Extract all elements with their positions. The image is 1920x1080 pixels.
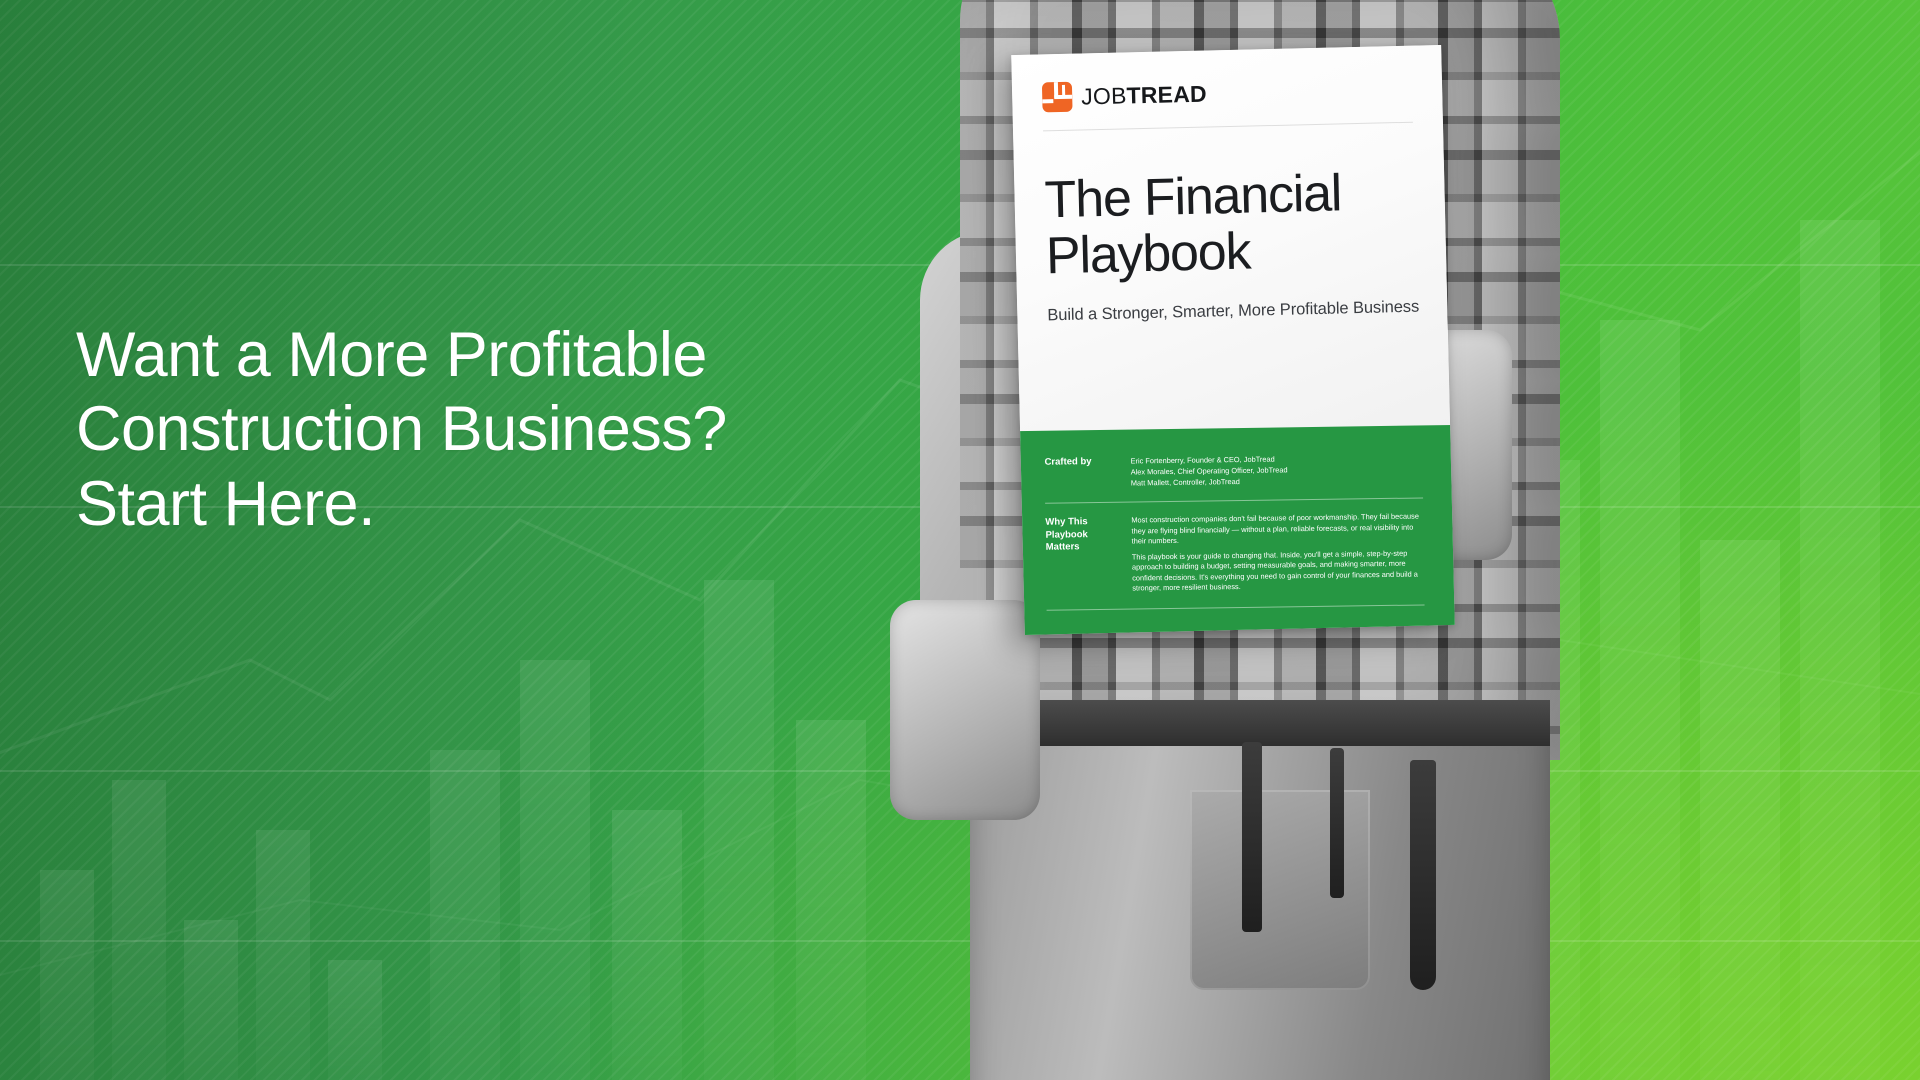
why-matters-paragraph: Most construction companies don't fail b… — [1131, 512, 1427, 548]
why-matters-block: Why This Playbook Matters Most construct… — [1045, 512, 1428, 596]
ebook-cover-green-panel: Crafted by Eric Fortenberry, Founder & C… — [1018, 425, 1455, 635]
pliers-icon — [1330, 748, 1344, 898]
ebook-logo: JOBTREAD — [1042, 74, 1413, 113]
ebook-cover-top: JOBTREAD The Financial Playbook Build a … — [1011, 45, 1450, 441]
left-hand — [890, 600, 1040, 820]
why-matters-label-line-1: Why This — [1045, 516, 1115, 530]
headline-line-2: Construction Business? — [76, 392, 846, 466]
ebook-subtitle: Build a Stronger, Smarter, More Profitab… — [1047, 298, 1417, 326]
ebook-title: The Financial Playbook — [1044, 165, 1417, 285]
jobtread-wordmark: JOBTREAD — [1081, 80, 1207, 110]
crafted-by-people: Eric Fortenberry, Founder & CEO, JobTrea… — [1130, 451, 1426, 488]
page-headline: Want a More Profitable Construction Busi… — [76, 318, 846, 541]
belt-strap — [1410, 760, 1436, 990]
headline-line-3: Start Here. — [76, 467, 846, 541]
crafted-by-label: Crafted by — [1044, 456, 1114, 490]
hammer-handle-icon — [1242, 742, 1262, 932]
ebook-title-line-2: Playbook — [1045, 220, 1416, 284]
wordmark-job: JOB — [1081, 82, 1127, 109]
why-matters-label-line-2: Playbook — [1045, 529, 1115, 543]
why-matters-label-line-3: Matters — [1046, 541, 1116, 555]
wordmark-tread: TREAD — [1126, 80, 1207, 108]
ebook-title-line-1: The Financial — [1044, 165, 1415, 229]
crafted-by-block: Crafted by Eric Fortenberry, Founder & C… — [1044, 451, 1426, 490]
jobtread-logo-icon — [1042, 82, 1073, 113]
green-panel-divider-bottom — [1047, 604, 1425, 610]
ebook-cover-card: JOBTREAD The Financial Playbook Build a … — [1011, 45, 1455, 635]
why-matters-label: Why This Playbook Matters — [1045, 516, 1116, 596]
why-matters-copy: Most construction companies don't fail b… — [1131, 512, 1428, 595]
green-panel-divider — [1045, 498, 1423, 504]
ebook-header-divider — [1043, 122, 1413, 132]
tool-belt — [970, 700, 1550, 746]
why-matters-paragraph: This playbook is your guide to changing … — [1132, 548, 1429, 594]
headline-line-1: Want a More Profitable — [76, 318, 846, 392]
